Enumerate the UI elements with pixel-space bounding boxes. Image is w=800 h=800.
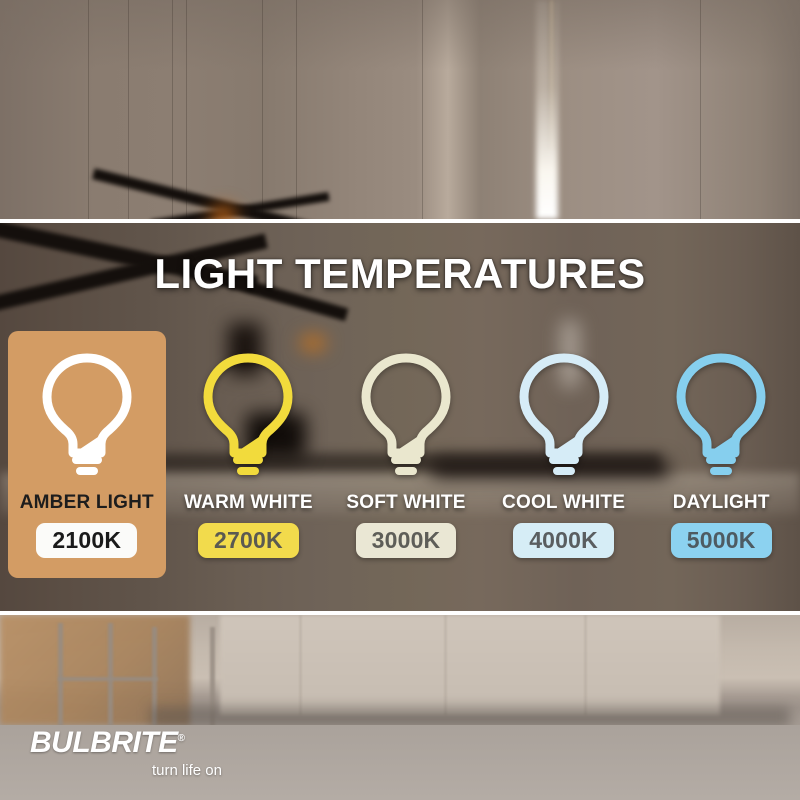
ceiling-light-wash — [0, 0, 800, 70]
card-label: WARM WHITE — [184, 492, 313, 514]
card-label: DAYLIGHT — [673, 492, 770, 514]
kelvin-badge: 3000K — [356, 523, 457, 558]
kelvin-badge: 2700K — [198, 523, 299, 558]
wall-seam-line — [700, 0, 701, 219]
page-title: LIGHT TEMPERATURES — [0, 250, 800, 298]
stool-leg — [108, 623, 113, 728]
kelvin-badge: 4000K — [513, 523, 614, 558]
kelvin-badge: 2100K — [36, 523, 137, 558]
kelvin-badge: 5000K — [671, 523, 772, 558]
card-label: COOL WHITE — [502, 492, 625, 514]
stool-leg — [58, 623, 63, 728]
cabinet-seam — [585, 615, 586, 715]
logo-tagline: turn life on — [30, 762, 222, 779]
wall-seam-line — [296, 0, 297, 219]
logo-wordmark: BULBRITE® — [30, 728, 260, 758]
lightbulb-icon — [356, 352, 456, 480]
infographic-canvas: LIGHT TEMPERATURES AMBER LIGHT 2100K — [0, 0, 800, 800]
stool-rail — [58, 677, 158, 681]
lightbulb-icon-wrap — [514, 352, 614, 480]
temperature-card-amber-light[interactable]: AMBER LIGHT 2100K — [8, 331, 166, 578]
background-photo-top — [0, 0, 800, 219]
lightbulb-icon — [671, 352, 771, 480]
card-label: AMBER LIGHT — [20, 492, 154, 514]
registered-trademark-icon: ® — [178, 733, 185, 744]
wall-seam-line — [422, 0, 423, 219]
wall-seam-line — [262, 0, 263, 219]
lightbulb-icon-wrap — [356, 352, 456, 480]
wall-seam-line — [172, 0, 173, 219]
cabinet-seam — [445, 615, 446, 715]
cabinet-blur — [220, 615, 720, 715]
pendant-bulb-glow — [210, 206, 236, 219]
card-label: SOFT WHITE — [346, 492, 465, 514]
temperature-card-row: AMBER LIGHT 2100K WARM WHITE 2700K — [0, 331, 800, 578]
pendant-light-glow — [536, 0, 558, 219]
temperature-card-warm-white[interactable]: WARM WHITE 2700K — [170, 331, 328, 578]
logo-wordmark-text: BULBRITE — [30, 726, 178, 759]
lightbulb-icon — [198, 352, 298, 480]
lightbulb-icon — [37, 352, 137, 480]
temperature-card-soft-white[interactable]: SOFT WHITE 3000K — [327, 331, 485, 578]
bulbrite-logo[interactable]: BULBRITE® turn life on — [30, 728, 260, 786]
wall-seam-line — [88, 0, 89, 219]
lightbulb-icon-wrap — [198, 352, 298, 480]
temperature-card-cool-white[interactable]: COOL WHITE 4000K — [485, 331, 643, 578]
lightbulb-icon — [514, 352, 614, 480]
wall-seam-line — [186, 0, 187, 219]
lightbulb-icon-wrap — [37, 352, 137, 480]
temperature-card-daylight[interactable]: DAYLIGHT 5000K — [642, 331, 800, 578]
lightbulb-icon-wrap — [671, 352, 771, 480]
cabinet-seam — [300, 615, 301, 715]
floor-shadow — [150, 707, 790, 727]
